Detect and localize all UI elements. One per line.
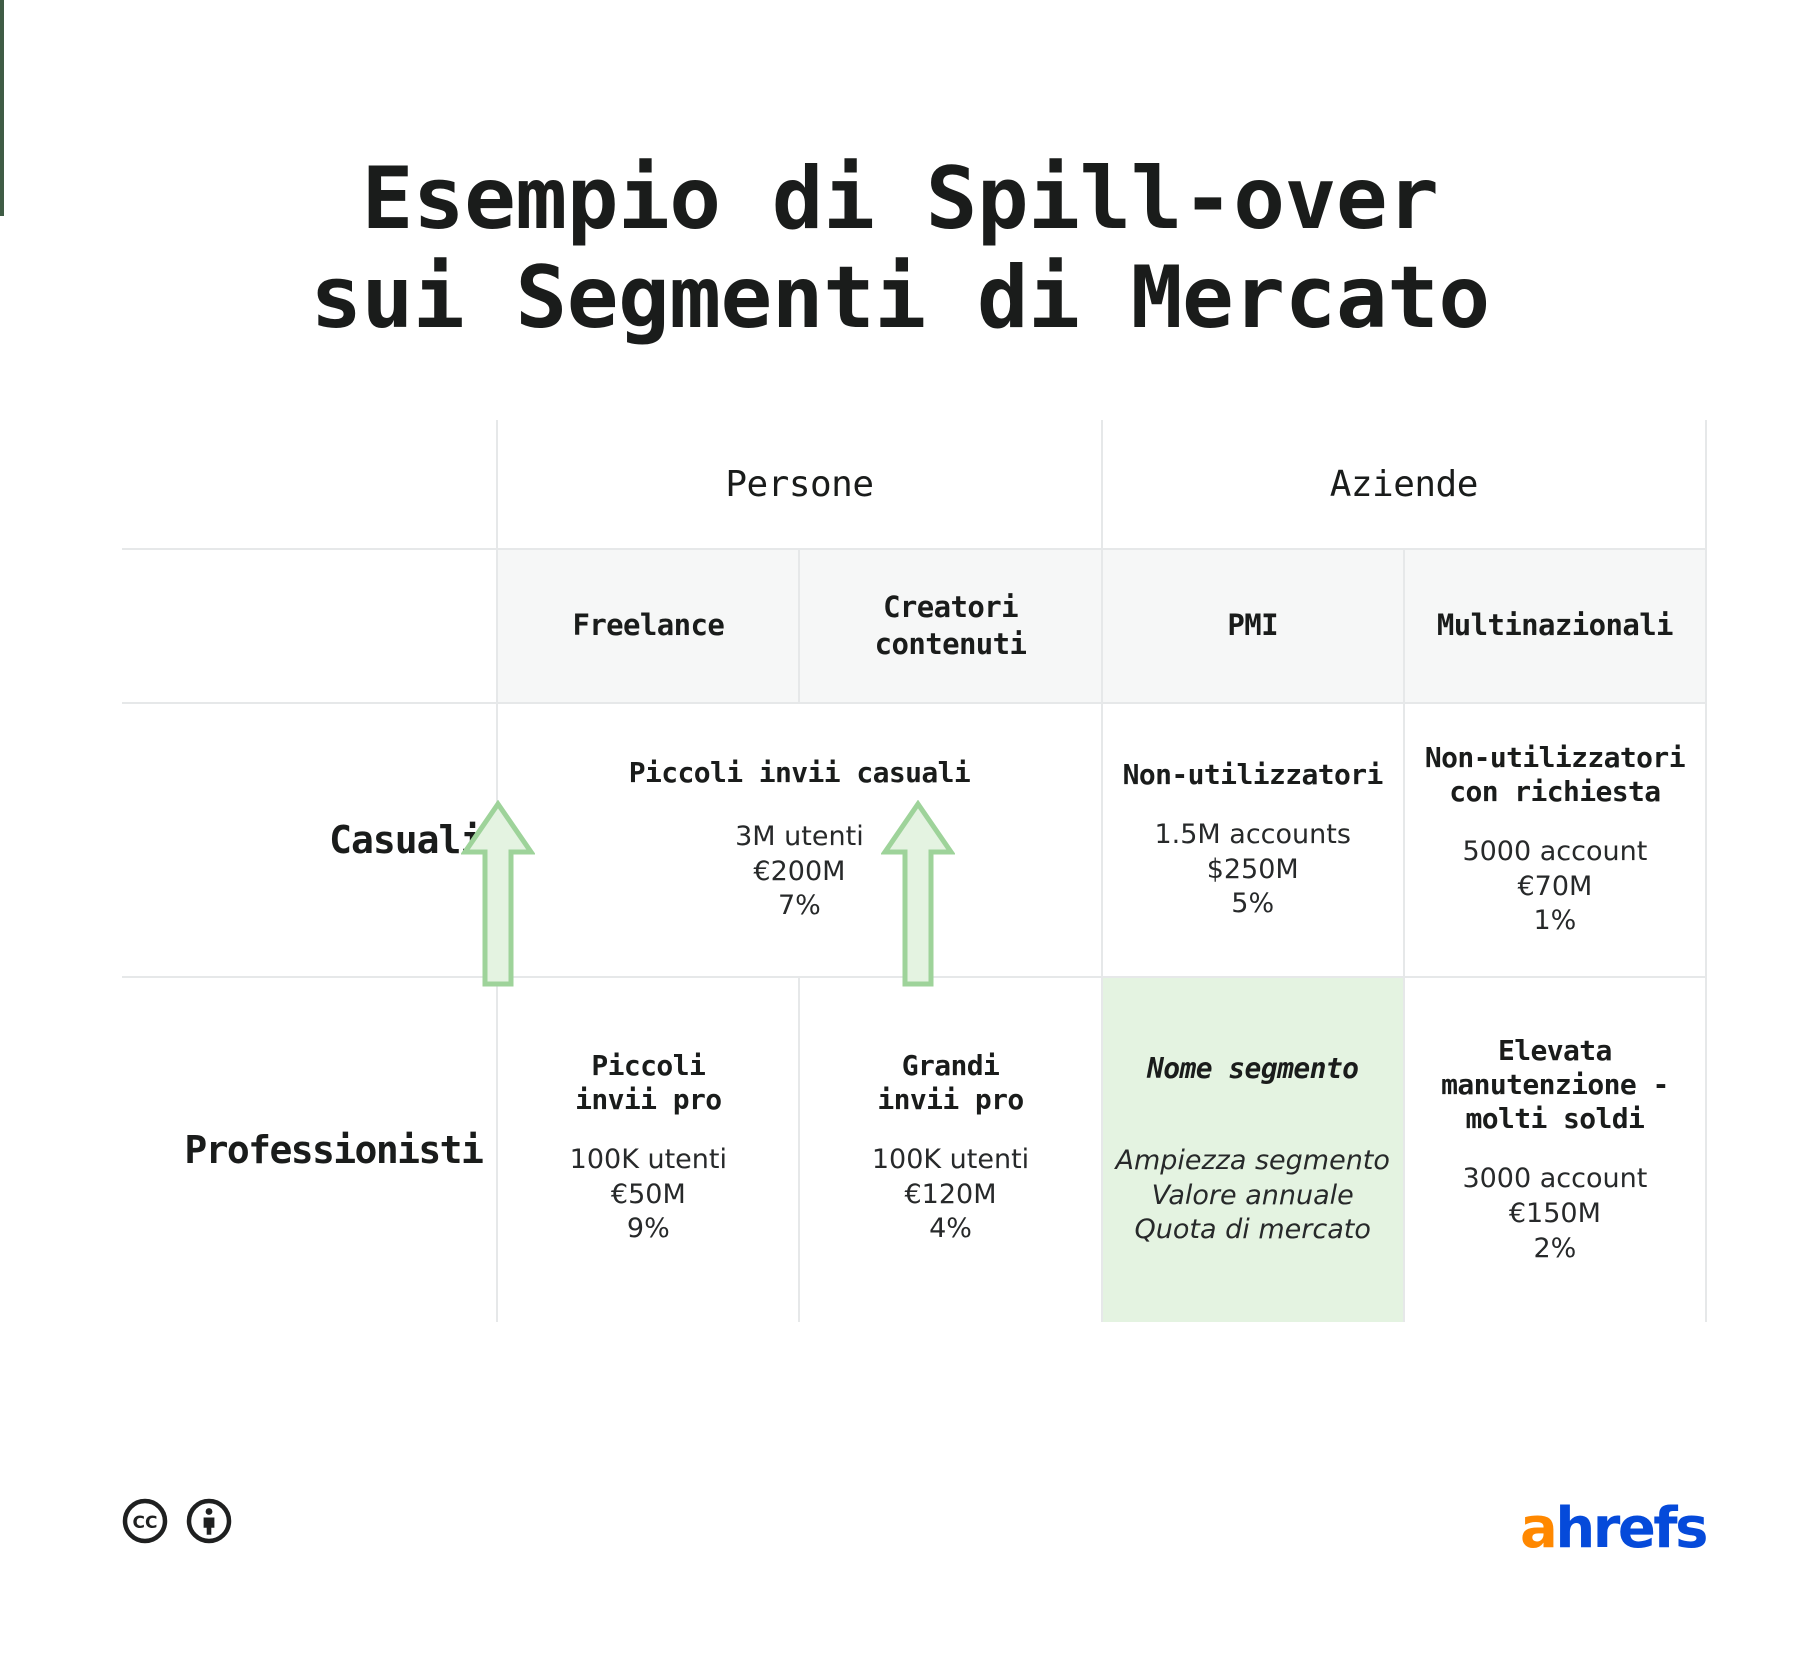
row-header-professionisti: Professionisti	[122, 977, 497, 1322]
ahrefs-logo: ahrefs	[1520, 1496, 1706, 1561]
cell-legend-title: Nome segmento	[1147, 1052, 1358, 1086]
ahrefs-logo-rest: hrefs	[1555, 1496, 1706, 1561]
page-title: Esempio di Spill-over sui Segmenti di Me…	[0, 150, 1800, 350]
column-header-pmi-label: PMI	[1103, 607, 1403, 644]
row-header-professionisti-label: Professionisti	[122, 1128, 496, 1172]
group-header-aziende: Aziende	[1102, 420, 1706, 549]
group-header-persone: Persone	[497, 420, 1101, 549]
cell-professionisti-creatori-stats: 100K utenti €120M 4%	[872, 1143, 1029, 1247]
cell-professionisti-multinazionali: Elevata manutenzione - molti soldi 3000 …	[1404, 977, 1706, 1322]
column-header-freelance-label: Freelance	[498, 607, 798, 644]
group-header-corner	[122, 420, 497, 549]
column-header-pmi: PMI	[1102, 549, 1404, 703]
table-row-professionisti: Professionisti Piccoli invii pro 100K ut…	[122, 977, 1706, 1322]
row-header-casuali: Casuali	[122, 703, 497, 977]
cell-casuali-multinazionali-stats: 5000 account €70M 1%	[1462, 835, 1647, 939]
column-header-multinazionali: Multinazionali	[1404, 549, 1706, 703]
cell-casuali-pmi-title: Non-utilizzatori	[1123, 758, 1383, 792]
group-header-row: Persone Aziende	[122, 420, 1706, 549]
cell-casuali-persone-stats: 3M utenti €200M 7%	[735, 820, 864, 924]
cell-professionisti-freelance: Piccoli invii pro 100K utenti €50M 9%	[497, 977, 799, 1322]
column-header-row: Freelance Creatori contenuti PMI Multina…	[122, 549, 1706, 703]
column-header-creatori-contenuti: Creatori contenuti	[799, 549, 1101, 703]
attribution-icon	[186, 1498, 232, 1544]
cell-professionisti-freelance-title: Piccoli invii pro	[575, 1049, 721, 1117]
spill-over-arrow-creatori-icon	[881, 800, 955, 988]
cell-professionisti-multinazionali-title: Elevata manutenzione - molti soldi	[1441, 1034, 1669, 1136]
creative-commons-icon: CC	[122, 1498, 168, 1544]
cell-casuali-pmi: Non-utilizzatori 1.5M accounts $250M 5%	[1102, 703, 1404, 977]
cell-casuali-persone: Piccoli invii casuali 3M utenti €200M 7%	[497, 703, 1101, 977]
column-header-creatori-contenuti-label: Creatori contenuti	[800, 589, 1100, 663]
cell-casuali-pmi-stats: 1.5M accounts $250M 5%	[1154, 818, 1350, 922]
page-title-line-1: Esempio di Spill-over	[0, 150, 1800, 250]
page-title-line-2: sui Segmenti di Mercato	[0, 249, 1800, 349]
column-header-corner	[122, 549, 497, 703]
license-icons: CC	[122, 1498, 232, 1544]
cell-professionisti-multinazionali-stats: 3000 account €150M 2%	[1462, 1162, 1647, 1266]
cell-professionisti-freelance-stats: 100K utenti €50M 9%	[570, 1143, 727, 1247]
cell-casuali-persone-title: Piccoli invii casuali	[629, 756, 970, 790]
ahrefs-logo-a: a	[1520, 1496, 1555, 1561]
cell-professionisti-creatori: Grandi invii pro 100K utenti €120M 4%	[799, 977, 1101, 1322]
column-header-freelance: Freelance	[497, 549, 799, 703]
spill-over-arrow-freelance-icon	[461, 800, 535, 988]
cell-professionisti-creatori-title: Grandi invii pro	[877, 1049, 1023, 1117]
row-header-casuali-label: Casuali	[122, 818, 496, 862]
cell-professionisti-pmi-legend: Nome segmento Ampiezza segmento Valore a…	[1102, 977, 1404, 1322]
cell-casuali-multinazionali-title: Non-utilizzatori con richiesta	[1425, 741, 1685, 809]
svg-text:CC: CC	[133, 1513, 158, 1533]
cell-legend-stats: Ampiezza segmento Valore annuale Quota d…	[1115, 1144, 1389, 1248]
cell-casuali-multinazionali: Non-utilizzatori con richiesta 5000 acco…	[1404, 703, 1706, 977]
column-header-multinazionali-label: Multinazionali	[1405, 607, 1705, 644]
